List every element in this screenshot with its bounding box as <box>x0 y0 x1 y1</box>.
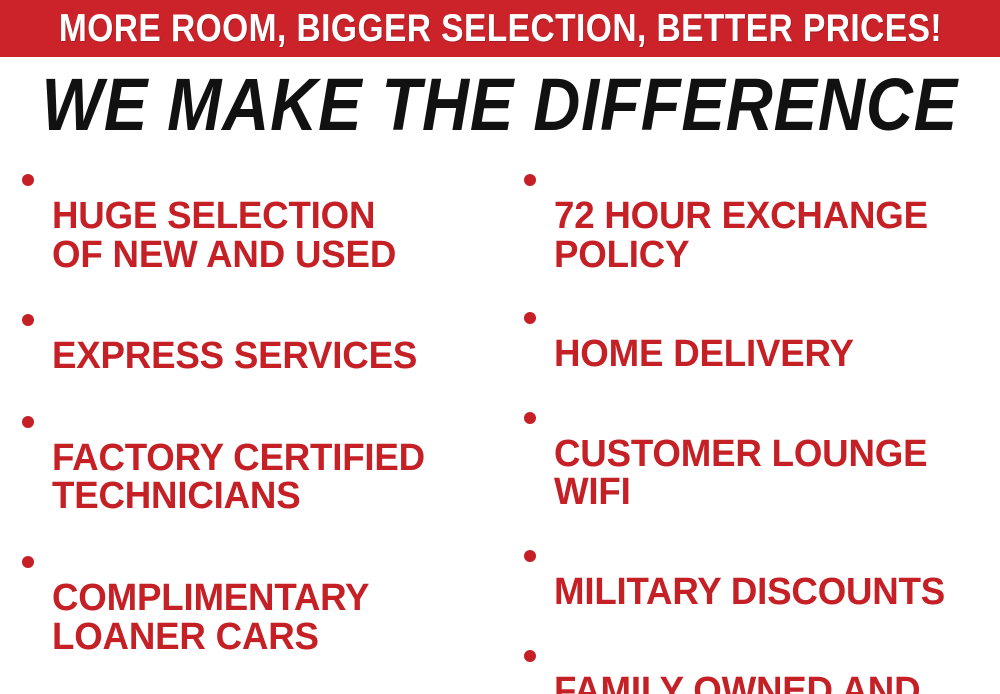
benefit-list-left: HUGE SELECTION OF NEW AND USED EXPRESS S… <box>20 158 494 694</box>
benefit-text: 72 HOUR EXCHANGE POLICY <box>554 197 928 275</box>
benefit-text: COMPLIMENTARY LOANER CARS <box>52 579 369 657</box>
list-item: FACTORY CERTIFIED TECHNICIANS <box>20 400 494 516</box>
benefit-text: FACTORY CERTIFIED TECHNICIANS <box>52 439 425 517</box>
benefits-column-right: 72 HOUR EXCHANGE POLICY HOME DELIVERY CU… <box>500 158 1000 694</box>
list-item: MILITARY DISCOUNTS <box>522 534 998 612</box>
list-item: 72 HOUR EXCHANGE POLICY <box>522 158 998 274</box>
banner-headline: MORE ROOM, BIGGER SELECTION, BETTER PRIC… <box>58 9 941 48</box>
benefit-text: EXPRESS SERVICES <box>52 337 417 376</box>
list-item: HOME DELIVERY <box>522 296 998 374</box>
headline-area: WE MAKE THE DIFFERENCE <box>0 66 1000 144</box>
benefits-columns: HUGE SELECTION OF NEW AND USED EXPRESS S… <box>0 158 1000 694</box>
list-item: HUGE SELECTION OF NEW AND USED <box>20 158 494 274</box>
page-title: WE MAKE THE DIFFERENCE <box>42 68 959 142</box>
list-item: COMPLIMENTARY SHUTTLE SERVICE <box>20 680 494 694</box>
benefit-text: CUSTOMER LOUNGE WIFI <box>554 435 927 513</box>
benefit-text: HOME DELIVERY <box>554 335 854 374</box>
promo-poster: MORE ROOM, BIGGER SELECTION, BETTER PRIC… <box>0 0 1000 694</box>
list-item: FAMILY OWNED AND OPERATED <box>522 634 998 694</box>
benefit-list-right: 72 HOUR EXCHANGE POLICY HOME DELIVERY CU… <box>522 158 998 694</box>
top-banner: MORE ROOM, BIGGER SELECTION, BETTER PRIC… <box>0 0 1000 57</box>
benefits-column-left: HUGE SELECTION OF NEW AND USED EXPRESS S… <box>0 158 500 694</box>
benefit-text: MILITARY DISCOUNTS <box>554 573 945 612</box>
list-item: CUSTOMER LOUNGE WIFI <box>522 396 998 512</box>
list-item: EXPRESS SERVICES <box>20 298 494 376</box>
benefit-text: FAMILY OWNED AND OPERATED <box>554 672 920 694</box>
benefit-text: HUGE SELECTION OF NEW AND USED <box>52 197 396 275</box>
list-item: COMPLIMENTARY LOANER CARS <box>20 540 494 656</box>
